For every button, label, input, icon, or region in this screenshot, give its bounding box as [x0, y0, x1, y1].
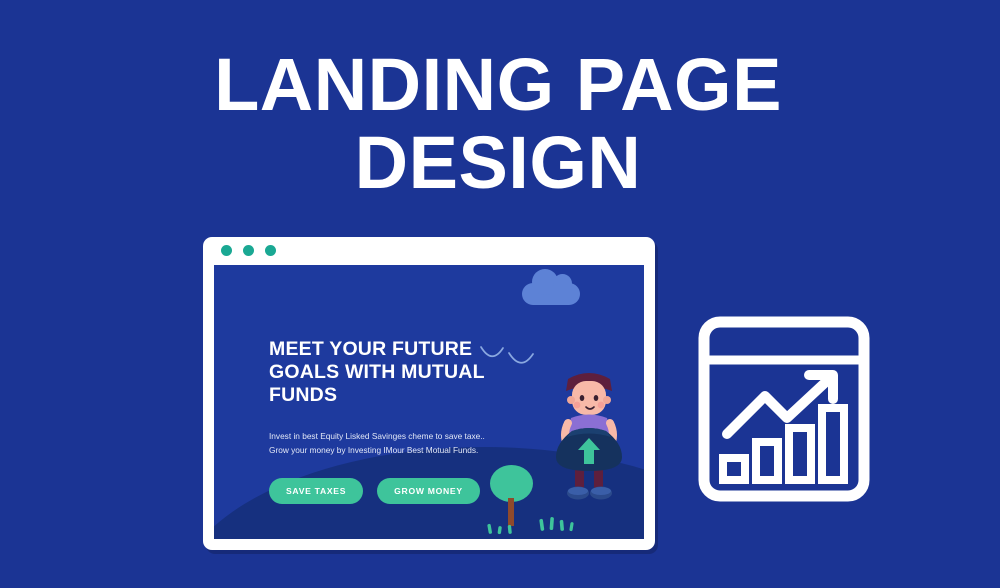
browser-mockup: MEET YOUR FUTURE GOALS WITH MUTUAL FUNDS…: [203, 237, 655, 550]
save-taxes-button[interactable]: SAVE TAXES: [269, 478, 363, 504]
window-dot-2-icon[interactable]: [243, 245, 254, 256]
boy-with-money-bag-illustration: [544, 365, 636, 505]
hero-subtext: Invest in best Equity Lisked Savinges ch…: [269, 429, 539, 457]
screenshot-canvas: LANDING PAGE DESIGN MEET YOUR FUTURE GOA…: [0, 0, 1000, 588]
analytics-window-icon[interactable]: [698, 316, 870, 502]
page-title-line-2: DESIGN: [0, 124, 1000, 202]
hero-subtext-line-1: Invest in best Equity Lisked Savinges ch…: [269, 429, 539, 443]
landing-page-preview: MEET YOUR FUTURE GOALS WITH MUTUAL FUNDS…: [214, 265, 644, 539]
window-dot-1-icon[interactable]: [221, 245, 232, 256]
grass-tufts-icon: [484, 517, 614, 539]
tree-crown-icon: [490, 465, 533, 502]
page-title-line-1: LANDING PAGE: [0, 46, 1000, 124]
cloud-icon: [522, 283, 580, 305]
browser-title-bar: [203, 237, 655, 263]
hero-headline: MEET YOUR FUTURE GOALS WITH MUTUAL FUNDS: [269, 338, 519, 407]
grow-money-button[interactable]: GROW MONEY: [377, 478, 480, 504]
window-dot-3-icon[interactable]: [265, 245, 276, 256]
hero-button-row: SAVE TAXES GROW MONEY: [269, 478, 480, 504]
hero-subtext-line-2: Grow your money by Investing IMour Best …: [269, 443, 539, 457]
page-title: LANDING PAGE DESIGN: [0, 46, 1000, 202]
